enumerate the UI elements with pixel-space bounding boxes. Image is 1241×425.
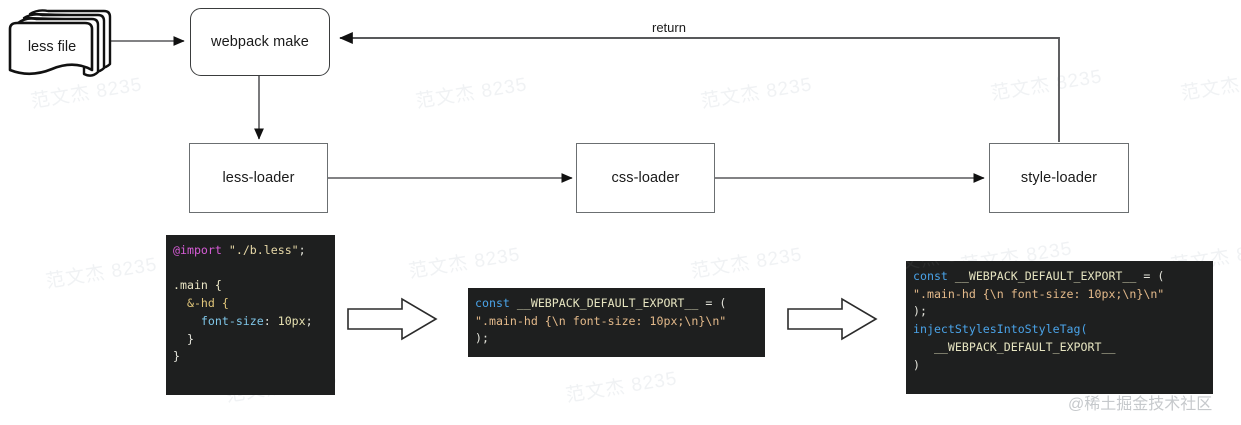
code-token — [222, 243, 229, 257]
code-token: injectStylesIntoStyleTag( — [913, 322, 1088, 336]
code-token: ; — [306, 314, 313, 328]
code-block-less-source: @import "./b.less"; .main { &-hd { font-… — [166, 235, 335, 395]
code-line: .main { — [173, 277, 329, 295]
code-token: __WEBPACK_DEFAULT_EXPORT__ — [934, 340, 1115, 354]
node-less-loader-label: less-loader — [222, 170, 294, 186]
code-line: @import "./b.less"; — [173, 242, 329, 260]
watermark: 范文杰 8235 — [407, 239, 522, 283]
flow-arrow-less-to-css — [348, 299, 436, 339]
watermark: 范文杰 8235 — [689, 239, 804, 283]
code-token: ); — [475, 331, 489, 345]
code-token: __WEBPACK_DEFAULT_EXPORT__ — [955, 269, 1136, 283]
edge-label-return: return — [652, 20, 686, 35]
code-token — [173, 314, 201, 328]
attribution-label: @稀土掘金技术社区 — [1068, 390, 1212, 414]
diagram-canvas: 范文杰 8235 范文杰 8235 范文杰 8235 范文杰 8235 范文杰 … — [0, 0, 1241, 425]
code-token — [913, 340, 934, 354]
node-webpack-make-label: webpack make — [211, 34, 309, 50]
code-line: &-hd { — [173, 295, 329, 313]
code-token: ); — [913, 304, 927, 318]
code-line: __WEBPACK_DEFAULT_EXPORT__ — [913, 339, 1207, 357]
code-token — [510, 296, 517, 310]
code-token: const — [475, 296, 510, 310]
code-token: font-size — [201, 314, 264, 328]
code-token: __WEBPACK_DEFAULT_EXPORT__ — [517, 296, 698, 310]
code-line: font-size: 10px; — [173, 313, 329, 331]
watermark: 范文杰 8235 — [699, 69, 814, 113]
code-token: "./b.less" — [229, 243, 299, 257]
code-line: } — [173, 348, 329, 366]
code-line — [173, 260, 329, 278]
flow-arrow-css-to-style — [788, 299, 876, 339]
code-token: @import — [173, 243, 222, 257]
node-less-file-label: less file — [28, 39, 76, 55]
node-css-loader-label: css-loader — [612, 170, 680, 186]
watermark: 范文杰 8235 — [44, 249, 159, 293]
code-token — [948, 269, 955, 283]
node-less-file[interactable]: less file — [10, 23, 92, 78]
code-token: = ( — [698, 296, 726, 310]
code-token — [173, 296, 187, 310]
watermark: 范文杰 8235 — [989, 61, 1104, 105]
node-webpack-make[interactable]: webpack make — [190, 8, 330, 76]
code-block-style-loader-output: const __WEBPACK_DEFAULT_EXPORT__ = (".ma… — [906, 261, 1213, 394]
code-token: ".main-hd {\n font-size: 10px;\n}\n" — [475, 314, 726, 328]
node-css-loader[interactable]: css-loader — [576, 143, 715, 213]
code-line: ".main-hd {\n font-size: 10px;\n}\n" — [475, 313, 759, 331]
code-token: = ( — [1136, 269, 1164, 283]
node-style-loader[interactable]: style-loader — [989, 143, 1129, 213]
node-less-loader[interactable]: less-loader — [189, 143, 328, 213]
code-line: ) — [913, 357, 1207, 375]
code-line: ); — [475, 330, 759, 348]
watermark: 范文杰 8235 — [414, 69, 529, 113]
code-block-css-loader-output: const __WEBPACK_DEFAULT_EXPORT__ = (".ma… — [468, 288, 765, 357]
code-token: } — [173, 332, 194, 346]
code-token: ".main-hd {\n font-size: 10px;\n}\n" — [913, 287, 1164, 301]
code-line: const __WEBPACK_DEFAULT_EXPORT__ = ( — [913, 268, 1207, 286]
watermark: 范文杰 8235 — [1179, 61, 1241, 105]
code-line: ); — [913, 303, 1207, 321]
code-line: ".main-hd {\n font-size: 10px;\n}\n" — [913, 286, 1207, 304]
node-style-loader-label: style-loader — [1021, 170, 1097, 186]
code-token: &-hd { — [187, 296, 229, 310]
code-token: ; — [299, 243, 306, 257]
code-token: 10px — [278, 314, 306, 328]
code-token: } — [173, 349, 180, 363]
watermark: 范文杰 8235 — [564, 363, 679, 407]
code-token: : — [264, 314, 278, 328]
code-line: } — [173, 331, 329, 349]
code-token: ) — [913, 358, 920, 372]
code-line: const __WEBPACK_DEFAULT_EXPORT__ = ( — [475, 295, 759, 313]
code-line: injectStylesIntoStyleTag( — [913, 321, 1207, 339]
code-token: .main { — [173, 278, 222, 292]
